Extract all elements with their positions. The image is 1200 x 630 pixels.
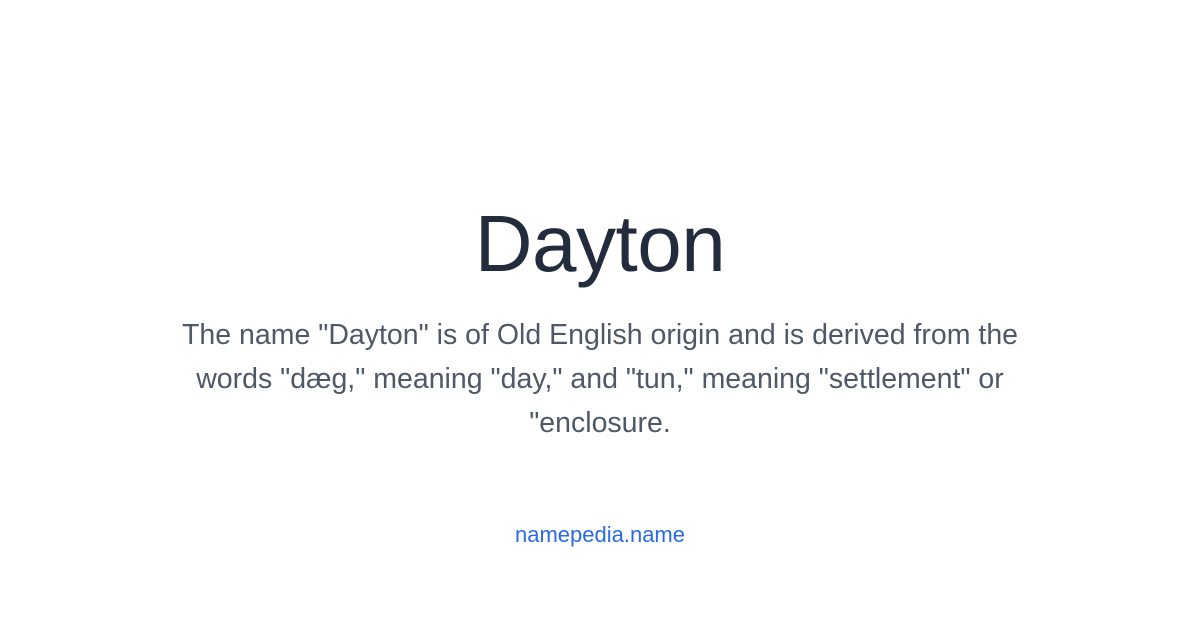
name-preview-card: Dayton The name "Dayton" is of Old Engli… — [0, 0, 1200, 630]
page-title: Dayton — [0, 196, 1200, 292]
site-link[interactable]: namepedia.name — [0, 521, 1200, 549]
name-description: The name "Dayton" is of Old English orig… — [150, 313, 1050, 445]
